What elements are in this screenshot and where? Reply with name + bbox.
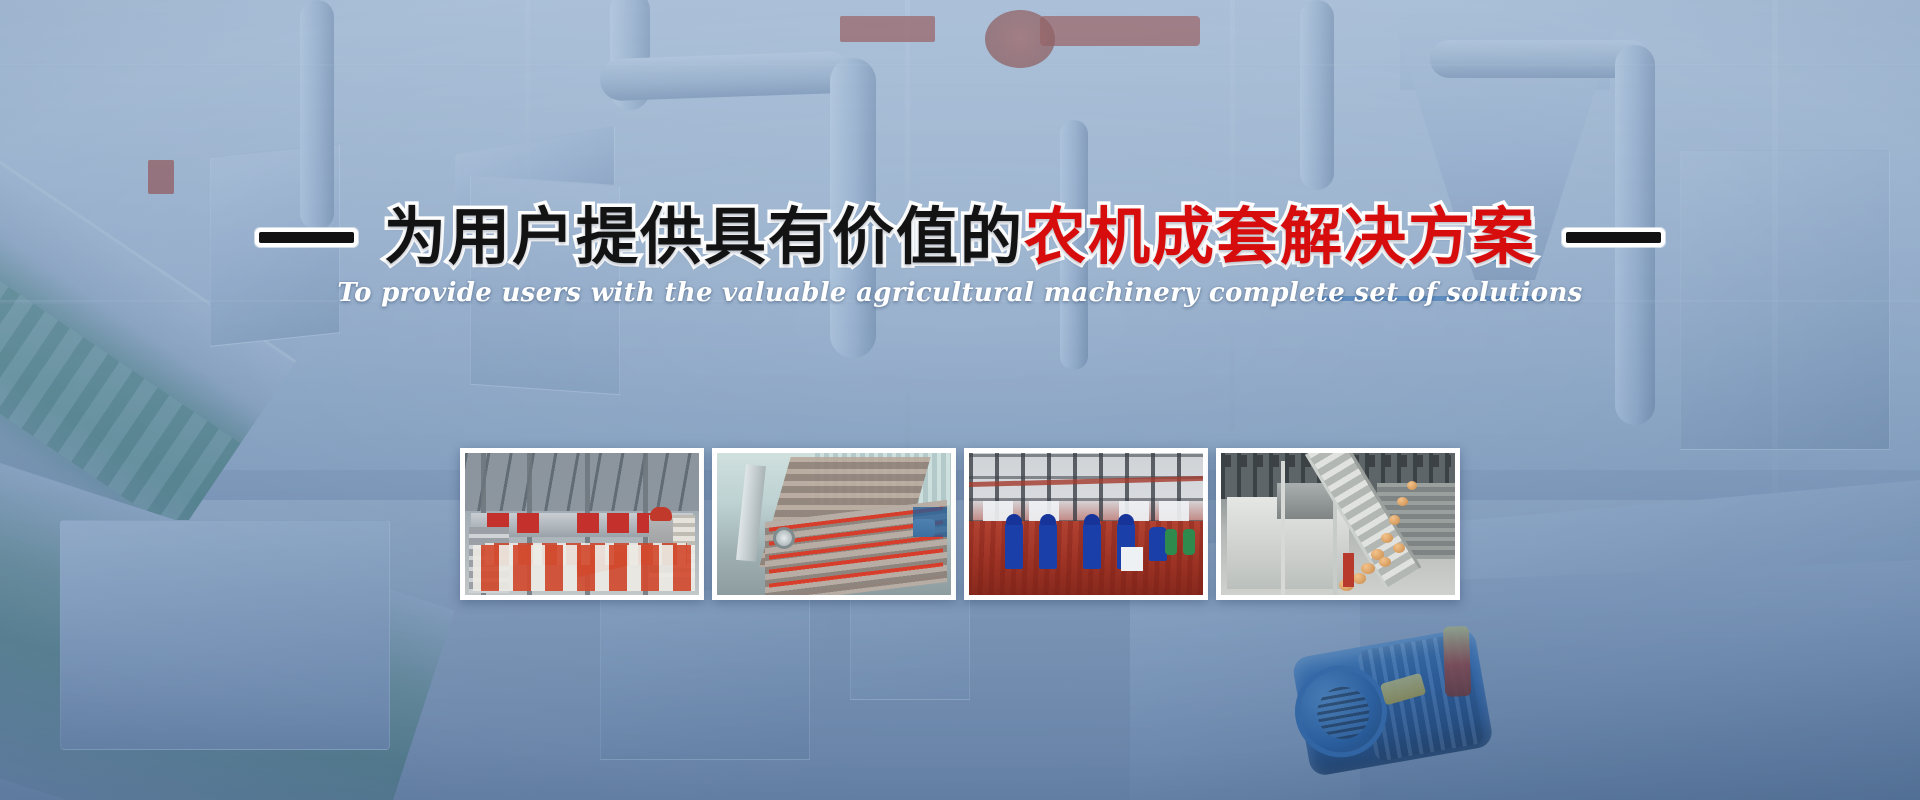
worker-blue-coat: [1039, 521, 1057, 569]
air-duct: [736, 464, 766, 562]
thumbnail-strip: [0, 448, 1920, 600]
red-banner-sign: [577, 513, 599, 533]
thumbnail-goji-processing-warehouse[interactable]: [460, 448, 704, 600]
red-banner-sign: [517, 513, 539, 533]
ginger-piece: [1397, 497, 1408, 506]
hero-banner: 为用户提供具有价值的农机成套解决方案 To provide users with…: [0, 0, 1920, 800]
worker-cap: [1118, 514, 1134, 525]
worker-green-coat: [1165, 529, 1177, 555]
headline-row: 为用户提供具有价值的农机成套解决方案: [0, 206, 1920, 268]
red-banner-sign: [607, 513, 629, 533]
right-dash-decoration: [1566, 232, 1661, 243]
ginger-piece: [1381, 533, 1393, 543]
thumbnail-chili-drying-workers[interactable]: [964, 448, 1208, 600]
ginger-piece: [1393, 543, 1405, 553]
support-rail: [1281, 461, 1285, 595]
thumbnail-photo: [1221, 453, 1455, 595]
fire-extinguisher: [1343, 553, 1354, 587]
ginger-piece: [1353, 573, 1366, 584]
headline-dark-text: 为用户提供具有价值的: [384, 200, 1024, 273]
left-dash-decoration: [259, 232, 354, 243]
worker-blue-coat: [1005, 521, 1023, 569]
thumbnail-photo: [717, 453, 951, 595]
worker-green-coat: [1183, 529, 1195, 555]
page-title: 为用户提供具有价值的农机成套解决方案: [384, 206, 1536, 268]
headline-red-text: 农机成套解决方案: [1024, 200, 1536, 273]
thumbnail-photo: [465, 453, 699, 595]
banner-content: 为用户提供具有价值的农机成套解决方案 To provide users with…: [0, 0, 1920, 800]
thumbnail-photo: [969, 453, 1203, 595]
ginger-piece: [1361, 563, 1375, 574]
worker-cap: [1084, 514, 1100, 525]
white-sack: [1121, 547, 1143, 571]
worker-red-hat: [650, 507, 672, 521]
thumbnail-drying-conveyor-line[interactable]: [712, 448, 956, 600]
worker-cap: [1040, 514, 1056, 525]
thumbnail-ginger-incline-conveyor[interactable]: [1216, 448, 1460, 600]
control-panel: [913, 507, 947, 537]
worker-cap: [1006, 514, 1022, 525]
drive-motor: [773, 527, 795, 549]
ginger-piece: [1379, 557, 1391, 567]
worker-blue-coat: [1083, 521, 1101, 569]
product-trays-lower: [473, 545, 695, 591]
page-subtitle: To provide users with the valuable agric…: [0, 278, 1920, 308]
warehouse-roof: [465, 453, 699, 511]
ginger-piece: [1389, 515, 1400, 525]
ginger-piece: [1407, 481, 1417, 490]
